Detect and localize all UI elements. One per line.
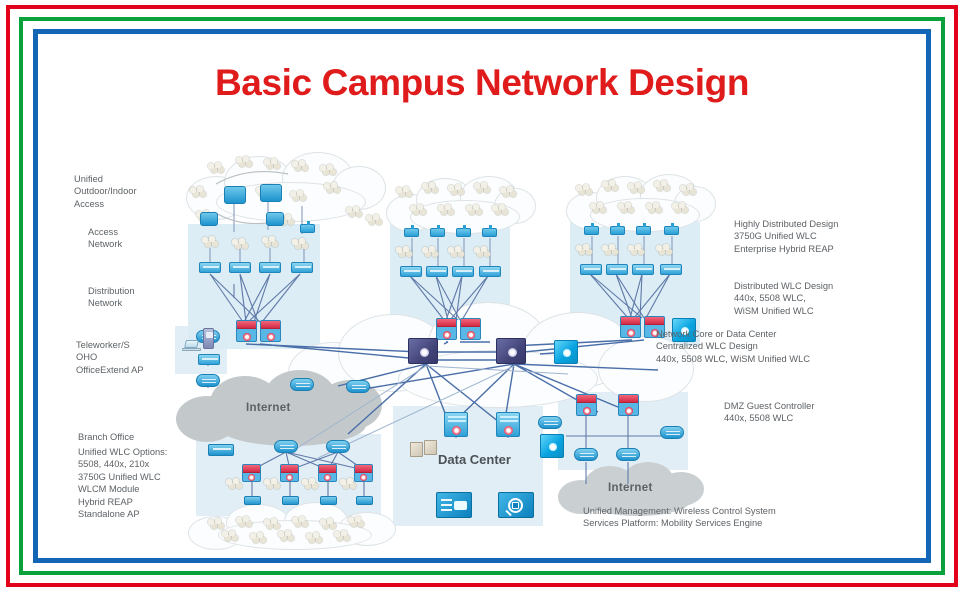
data-center-label: Data Center [438,454,511,466]
mesh-access-point-cluster-icon [588,202,608,214]
access-switch-icon [199,262,221,273]
mesh-access-point-cluster-icon [262,478,282,490]
network-analysis-appliance-icon [436,492,472,518]
server-stack-icon [410,442,423,457]
client-switch-icon [356,496,373,505]
access-point-icon [482,228,497,237]
client-switch-icon [320,496,337,505]
access-switch-icon [400,266,422,277]
mesh-access-point-cluster-icon [574,244,594,256]
mesh-access-point-cluster-icon [464,204,484,216]
mesh-access-point-cluster-icon [224,478,244,490]
mesh-access-point-cluster-icon [344,206,364,218]
core-router-icon [496,338,526,364]
mesh-router-icon [266,212,284,226]
mesh-router-icon [200,212,218,226]
router-icon [616,448,640,461]
mesh-access-point-cluster-icon [260,236,280,248]
mesh-access-point-cluster-icon [276,530,296,542]
access-switch-icon [229,262,251,273]
router-icon [196,374,220,387]
data-center-switch-icon [496,412,520,437]
mesh-access-point-cluster-icon [652,180,672,192]
access-switch-icon [632,264,654,275]
mesh-access-point-cluster-icon [498,186,518,198]
router-icon [346,380,370,393]
laptop-icon [182,340,201,352]
mesh-access-point-cluster-icon [304,532,324,544]
diagram-screenshot: Basic Campus Network Design Internet [0,0,964,592]
label-unified-management: Unified Management: Wireless Control Sys… [583,505,776,530]
wireless-lan-controller-icon [554,340,578,364]
mesh-access-point-cluster-icon [200,236,220,248]
label-unified-access: Unified Outdoor/Indoor Access [74,173,137,210]
mesh-access-point-cluster-icon [654,244,674,256]
mesh-access-point-cluster-icon [332,530,352,542]
distribution-switch-icon [260,320,281,342]
mesh-access-point-cluster-icon [670,202,690,214]
mesh-access-point-cluster-icon [472,246,492,258]
mesh-access-point-cluster-icon [290,238,310,250]
wlan-controller-module-icon [208,444,234,456]
mesh-access-point-cluster-icon [288,190,308,202]
mesh-access-point-cluster-icon [230,238,250,250]
server-stack-icon [424,440,437,455]
label-branch-office-body: Unified WLC Options: 5508, 440x, 210x 37… [78,446,167,520]
diagram-canvas: Basic Campus Network Design Internet [38,34,926,558]
label-network-core: Network Core or Data Center Centralized … [656,328,810,365]
mesh-access-point-cluster-icon [262,518,282,530]
access-switch-icon [606,264,628,275]
access-point-icon [610,226,625,235]
mesh-access-point-cluster-icon [420,182,440,194]
distribution-switch-icon [576,394,597,416]
router-icon [538,416,562,429]
mesh-access-point-cluster-icon [262,158,282,170]
mesh-access-point-cluster-icon [234,156,254,168]
mesh-access-point-cluster-icon [322,182,342,194]
label-access-network: Access Network [88,226,122,251]
router-icon [574,448,598,461]
mesh-access-point-cluster-icon [290,516,310,528]
mesh-access-point-cluster-icon [574,184,594,196]
mesh-access-point-cluster-icon [436,204,456,216]
mesh-access-point-cluster-icon [364,214,384,226]
access-point-icon [404,228,419,237]
mesh-access-point-cluster-icon [300,478,320,490]
mesh-access-point-cluster-icon [394,246,414,258]
data-center-switch-icon [444,412,468,437]
client-switch-icon [244,496,261,505]
mesh-access-point-cluster-icon [290,160,310,172]
access-switch-icon [426,266,448,277]
distribution-switch-icon [242,464,261,482]
access-point-icon [664,226,679,235]
mesh-access-point-cluster-icon [206,162,226,174]
mesh-access-point-cluster-icon [248,532,268,544]
label-distributed-wlc-design: Distributed WLC Design 440x, 5508 WLC, W… [734,280,833,317]
access-point-icon [456,228,471,237]
mesh-access-point-cluster-icon [420,246,440,258]
access-switch-icon [479,266,501,277]
access-point-icon [300,224,315,233]
mesh-access-point-cluster-icon [678,184,698,196]
access-switch-icon [291,262,313,273]
distribution-switch-icon [280,464,299,482]
access-point-icon [636,226,651,235]
mesh-access-point-cluster-icon [234,516,254,528]
mesh-access-point-cluster-icon [206,518,226,530]
mesh-access-point-cluster-icon [644,202,664,214]
mesh-access-point-cluster-icon [446,184,466,196]
mesh-access-point-cluster-icon [188,186,208,198]
router-icon [660,426,684,439]
mobility-services-engine-icon [498,492,534,518]
access-switch-icon [580,264,602,275]
access-switch-icon [259,262,281,273]
client-switch-icon [282,496,299,505]
mesh-access-point-cluster-icon [490,204,510,216]
ip-phone-icon [203,328,214,349]
mesh-access-point-cluster-icon [616,202,636,214]
mesh-access-point-cluster-icon [472,182,492,194]
mesh-router-icon [224,186,246,204]
distribution-switch-icon [618,394,639,416]
router-icon [326,440,350,453]
mesh-access-point-cluster-icon [318,164,338,176]
distribution-switch-icon [460,318,481,340]
wireless-lan-controller-icon [540,434,564,458]
core-router-icon [408,338,438,364]
mesh-access-point-cluster-icon [220,530,240,542]
mesh-access-point-cluster-icon [626,182,646,194]
mesh-access-point-cluster-icon [446,246,466,258]
mesh-access-point-cluster-icon [600,180,620,192]
access-switch-icon [198,354,220,365]
label-highly-distributed-design: Highly Distributed Design 3750G Unified … [734,218,838,255]
access-point-icon [584,226,599,235]
label-branch-office-title: Branch Office [78,431,134,443]
mesh-router-icon [260,184,282,202]
router-icon [274,440,298,453]
distribution-switch-icon [318,464,337,482]
access-point-icon [430,228,445,237]
router-icon [290,378,314,391]
label-dmz-guest-controller: DMZ Guest Controller 440x, 5508 WLC [724,400,814,425]
access-switch-icon [452,266,474,277]
distribution-switch-icon [236,320,257,342]
mesh-access-point-cluster-icon [346,516,366,528]
mesh-access-point-cluster-icon [408,204,428,216]
label-distribution-network: Distribution Network [88,285,135,310]
label-teleworker: Teleworker/S OHO OfficeExtend AP [76,339,144,376]
mesh-access-point-cluster-icon [626,244,646,256]
distribution-switch-icon [436,318,457,340]
distribution-switch-icon [620,316,641,338]
mesh-access-point-cluster-icon [318,518,338,530]
mesh-access-point-cluster-icon [600,244,620,256]
mesh-access-point-cluster-icon [394,186,414,198]
access-switch-icon [660,264,682,275]
mesh-access-point-cluster-icon [338,478,358,490]
